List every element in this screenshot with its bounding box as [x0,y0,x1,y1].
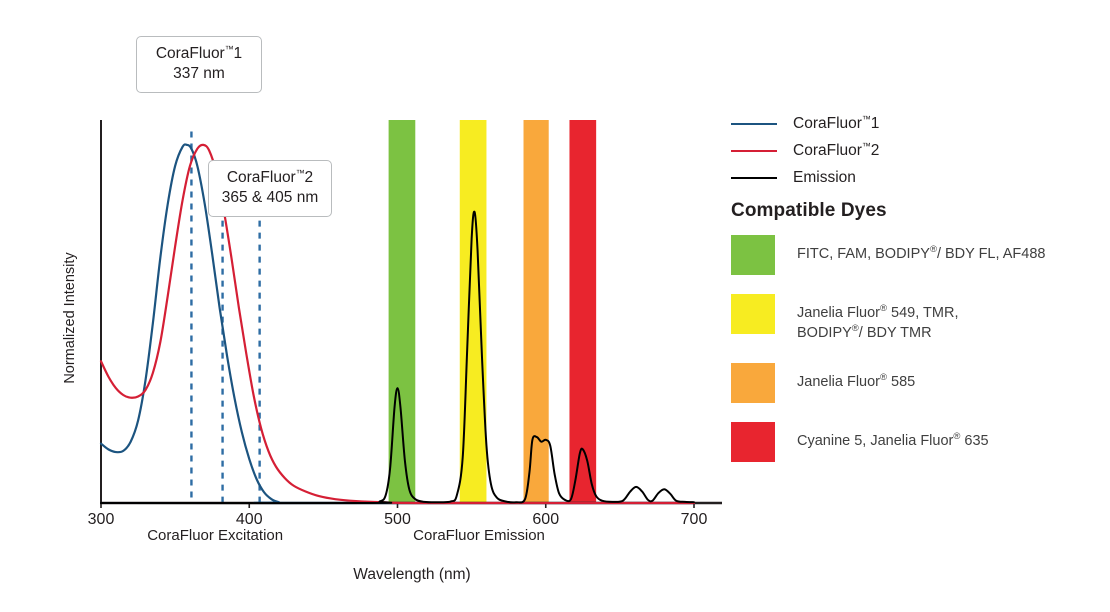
dye-color-swatch [731,422,775,462]
x-tick-label-500: 500 [384,511,411,529]
callout-corafluor-2: CoraFluor™2 365 & 405 nm [208,160,332,217]
callout-corafluor-1: CoraFluor™1 337 nm [136,36,262,93]
legend-item-0[interactable]: CoraFluor™1 [731,110,879,137]
dye-item-2: Janelia Fluor® 585 [731,363,1091,403]
dye-item-0: FITC, FAM, BODIPY®/ BDY FL, AF488 [731,235,1091,275]
region-label: CoraFluor Excitation [147,527,283,544]
region-label: CoraFluor Emission [413,527,545,544]
dye-item-label: Janelia Fluor® 585 [797,363,915,392]
dye-color-swatch [731,294,775,334]
spectra-plot [0,0,760,530]
legend-line-swatch [731,123,777,125]
x-tick-label-700: 700 [681,511,708,529]
legend-line-swatch [731,150,777,152]
dye-item-3: Cyanine 5, Janelia Fluor® 635 [731,422,1091,462]
y-axis-title: Normalized Intensity [62,252,78,383]
x-tick-label-300: 300 [88,511,115,529]
callout-1-line1: CoraFluor™1 [149,44,249,64]
legend-item-label: CoraFluor™2 [793,141,879,160]
dye-color-swatch [731,363,775,403]
legend-item-label: Emission [793,169,856,187]
legend-item-2[interactable]: Emission [731,164,879,191]
dye-item-1: Janelia Fluor® 549, TMR,BODIPY®/ BDY TMR [731,294,1091,344]
legend-item-1[interactable]: CoraFluor™2 [731,137,879,164]
chart-page: CoraFluor™1 337 nm CoraFluor™2 365 & 405… [0,0,1110,612]
orange-band [524,120,549,503]
dye-item-label: Janelia Fluor® 549, TMR,BODIPY®/ BDY TMR [797,294,958,344]
compatible-dyes-title: Compatible Dyes [731,200,887,222]
x-axis-title: Wavelength (nm) [353,566,470,584]
red-band [569,120,596,503]
legend-item-label: CoraFluor™1 [793,114,879,133]
callout-1-line2: 337 nm [149,64,249,84]
callout-2-line2: 365 & 405 nm [221,188,319,208]
compatible-dyes-list: FITC, FAM, BODIPY®/ BDY FL, AF488Janelia… [731,235,1091,481]
dye-item-label: FITC, FAM, BODIPY®/ BDY FL, AF488 [797,235,1045,264]
dye-item-label: Cyanine 5, Janelia Fluor® 635 [797,422,989,451]
legend-line-swatch [731,177,777,179]
callout-2-line1: CoraFluor™2 [221,168,319,188]
series-legend: CoraFluor™1CoraFluor™2Emission [731,110,879,191]
dye-color-swatch [731,235,775,275]
